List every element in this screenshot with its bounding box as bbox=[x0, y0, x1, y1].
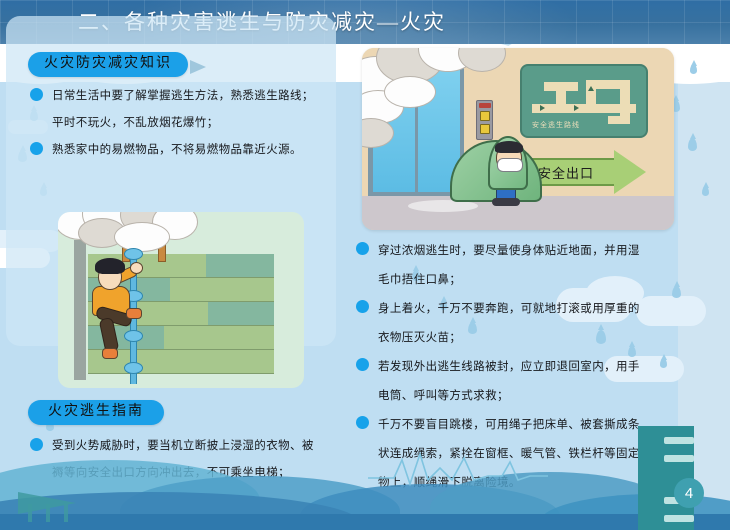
knowledge-bullets: 日常生活中要了解掌握逃生方法，熟悉逃生路线； 平时不玩火，不乱放烟花爆竹； 熟悉… bbox=[30, 84, 340, 165]
bullet-text: 熟悉家中的易燃物品，不将易燃物品靠近火源。 bbox=[52, 138, 302, 163]
wave-base bbox=[0, 514, 730, 530]
elevator-led-display bbox=[479, 103, 491, 108]
bullet-text: 受到火势威胁时，要当机立断披上浸湿的衣物、被 bbox=[52, 434, 314, 459]
elevator-down-button-icon[interactable] bbox=[480, 124, 490, 134]
bullet-text: 身上着火，千万不要奔跑，可就地打滚或用厚重的 bbox=[378, 296, 640, 323]
heartbeat-line-icon bbox=[368, 450, 548, 490]
smoke-puff-6 bbox=[114, 222, 170, 252]
bullet-text: 毛巾捂住口鼻； bbox=[378, 267, 461, 294]
pier-post-1 bbox=[28, 504, 32, 522]
rope-descent-illustration bbox=[58, 212, 304, 388]
boy-shoe-1 bbox=[126, 308, 142, 319]
building-edge bbox=[74, 240, 86, 380]
bullet-dot-icon bbox=[30, 88, 43, 101]
pier-post-3 bbox=[64, 504, 68, 522]
bullet-text: 日常生活中要了解掌握逃生方法，熟悉逃生路线； bbox=[52, 84, 314, 109]
list-item: 穿过浓烟逃生时，要尽量使身体贴近地面，并用湿 bbox=[356, 238, 718, 265]
bullet-dot-icon bbox=[356, 416, 369, 429]
raindrop-4 bbox=[702, 186, 709, 196]
raindrop-3 bbox=[688, 138, 697, 151]
bullet-dot-icon bbox=[356, 300, 369, 313]
list-item-cont: 平时不玩火，不乱放烟花爆竹； bbox=[30, 111, 340, 136]
raindrop-1 bbox=[690, 64, 697, 74]
elev-smoke-6 bbox=[384, 76, 436, 108]
bullet-text: 若发现外出逃生线路被封，应立即退回室内，用手 bbox=[378, 354, 640, 381]
bullet-text: 穿过浓烟逃生时，要尽量使身体贴近地面，并用湿 bbox=[378, 238, 640, 265]
escape-route-sign: 安全逃生路线 bbox=[520, 64, 648, 138]
exit-arrow-icon bbox=[614, 150, 646, 194]
list-item-cont: 衣物压灭火苗； bbox=[356, 325, 718, 352]
list-item-cont: 毛巾捂住口鼻； bbox=[356, 267, 718, 294]
pier-post-2 bbox=[46, 504, 50, 522]
elevator-up-button-icon[interactable] bbox=[480, 111, 490, 121]
section-heading-escape-guide: 火灾逃生指南 bbox=[28, 400, 164, 425]
list-item: 若发现外出逃生线路被封，应立即退回室内，用手 bbox=[356, 354, 718, 381]
list-item-cont: 电筒、呼叫等方式求救； bbox=[356, 383, 718, 410]
section-heading-knowledge: 火灾防灾减灾知识 bbox=[28, 52, 188, 77]
route-arrow-right-1 bbox=[540, 105, 545, 111]
bullet-dot-icon bbox=[30, 438, 43, 451]
bullet-dot-icon bbox=[356, 358, 369, 371]
person-shoe bbox=[492, 198, 520, 206]
building-window-4 bbox=[664, 515, 694, 522]
escape-route-sign-label: 安全逃生路线 bbox=[532, 120, 580, 130]
face-mask-icon bbox=[497, 158, 523, 172]
list-item: 熟悉家中的易燃物品，不将易燃物品靠近火源。 bbox=[30, 138, 340, 163]
boy-shoe-2 bbox=[102, 348, 118, 359]
rope-knot-3 bbox=[124, 330, 143, 342]
bullet-text: 电筒、呼叫等方式求救； bbox=[378, 383, 509, 410]
page-number-badge: 4 bbox=[674, 478, 704, 508]
bullet-dot-icon bbox=[30, 142, 43, 155]
list-item: 日常生活中要了解掌握逃生方法，熟悉逃生路线； bbox=[30, 84, 340, 109]
exit-sign-label: 安全出口 bbox=[538, 163, 594, 182]
elevator-call-panel[interactable] bbox=[476, 100, 493, 140]
exit-sign: 安全出口 bbox=[530, 150, 648, 194]
bullet-text: 千万不要盲目跳楼，可用绳子把床单、被套撕成条 bbox=[378, 412, 640, 439]
route-arrow-right-2 bbox=[574, 105, 579, 111]
bullet-text: 平时不玩火，不乱放烟花爆竹； bbox=[52, 111, 219, 136]
list-item: 受到火势威胁时，要当机立断披上浸湿的衣物、被 bbox=[30, 434, 342, 459]
route-arrow-up bbox=[588, 86, 594, 91]
list-item: 身上着火，千万不要奔跑，可就地打滚或用厚重的 bbox=[356, 296, 718, 323]
rope-knot-4 bbox=[124, 362, 143, 374]
rope-knot-1 bbox=[124, 248, 143, 260]
boy-hand bbox=[130, 262, 143, 274]
poster-page: 二、各种灾害逃生与防灾减灾—火灾 火灾防灾减灾知识 日常生活中要了解掌握逃生方法… bbox=[0, 0, 730, 530]
bullet-dot-icon bbox=[356, 242, 369, 255]
bullet-text: 衣物压灭火苗； bbox=[378, 325, 461, 352]
building-window-2 bbox=[664, 455, 694, 462]
elevator-corridor-illustration: 电 梯 安全逃生路线 安全出口 bbox=[362, 48, 674, 230]
building-window-1 bbox=[664, 437, 694, 444]
section-heading-knowledge-tail bbox=[190, 60, 206, 74]
boy-hair bbox=[95, 258, 125, 274]
person-hair bbox=[495, 141, 523, 153]
